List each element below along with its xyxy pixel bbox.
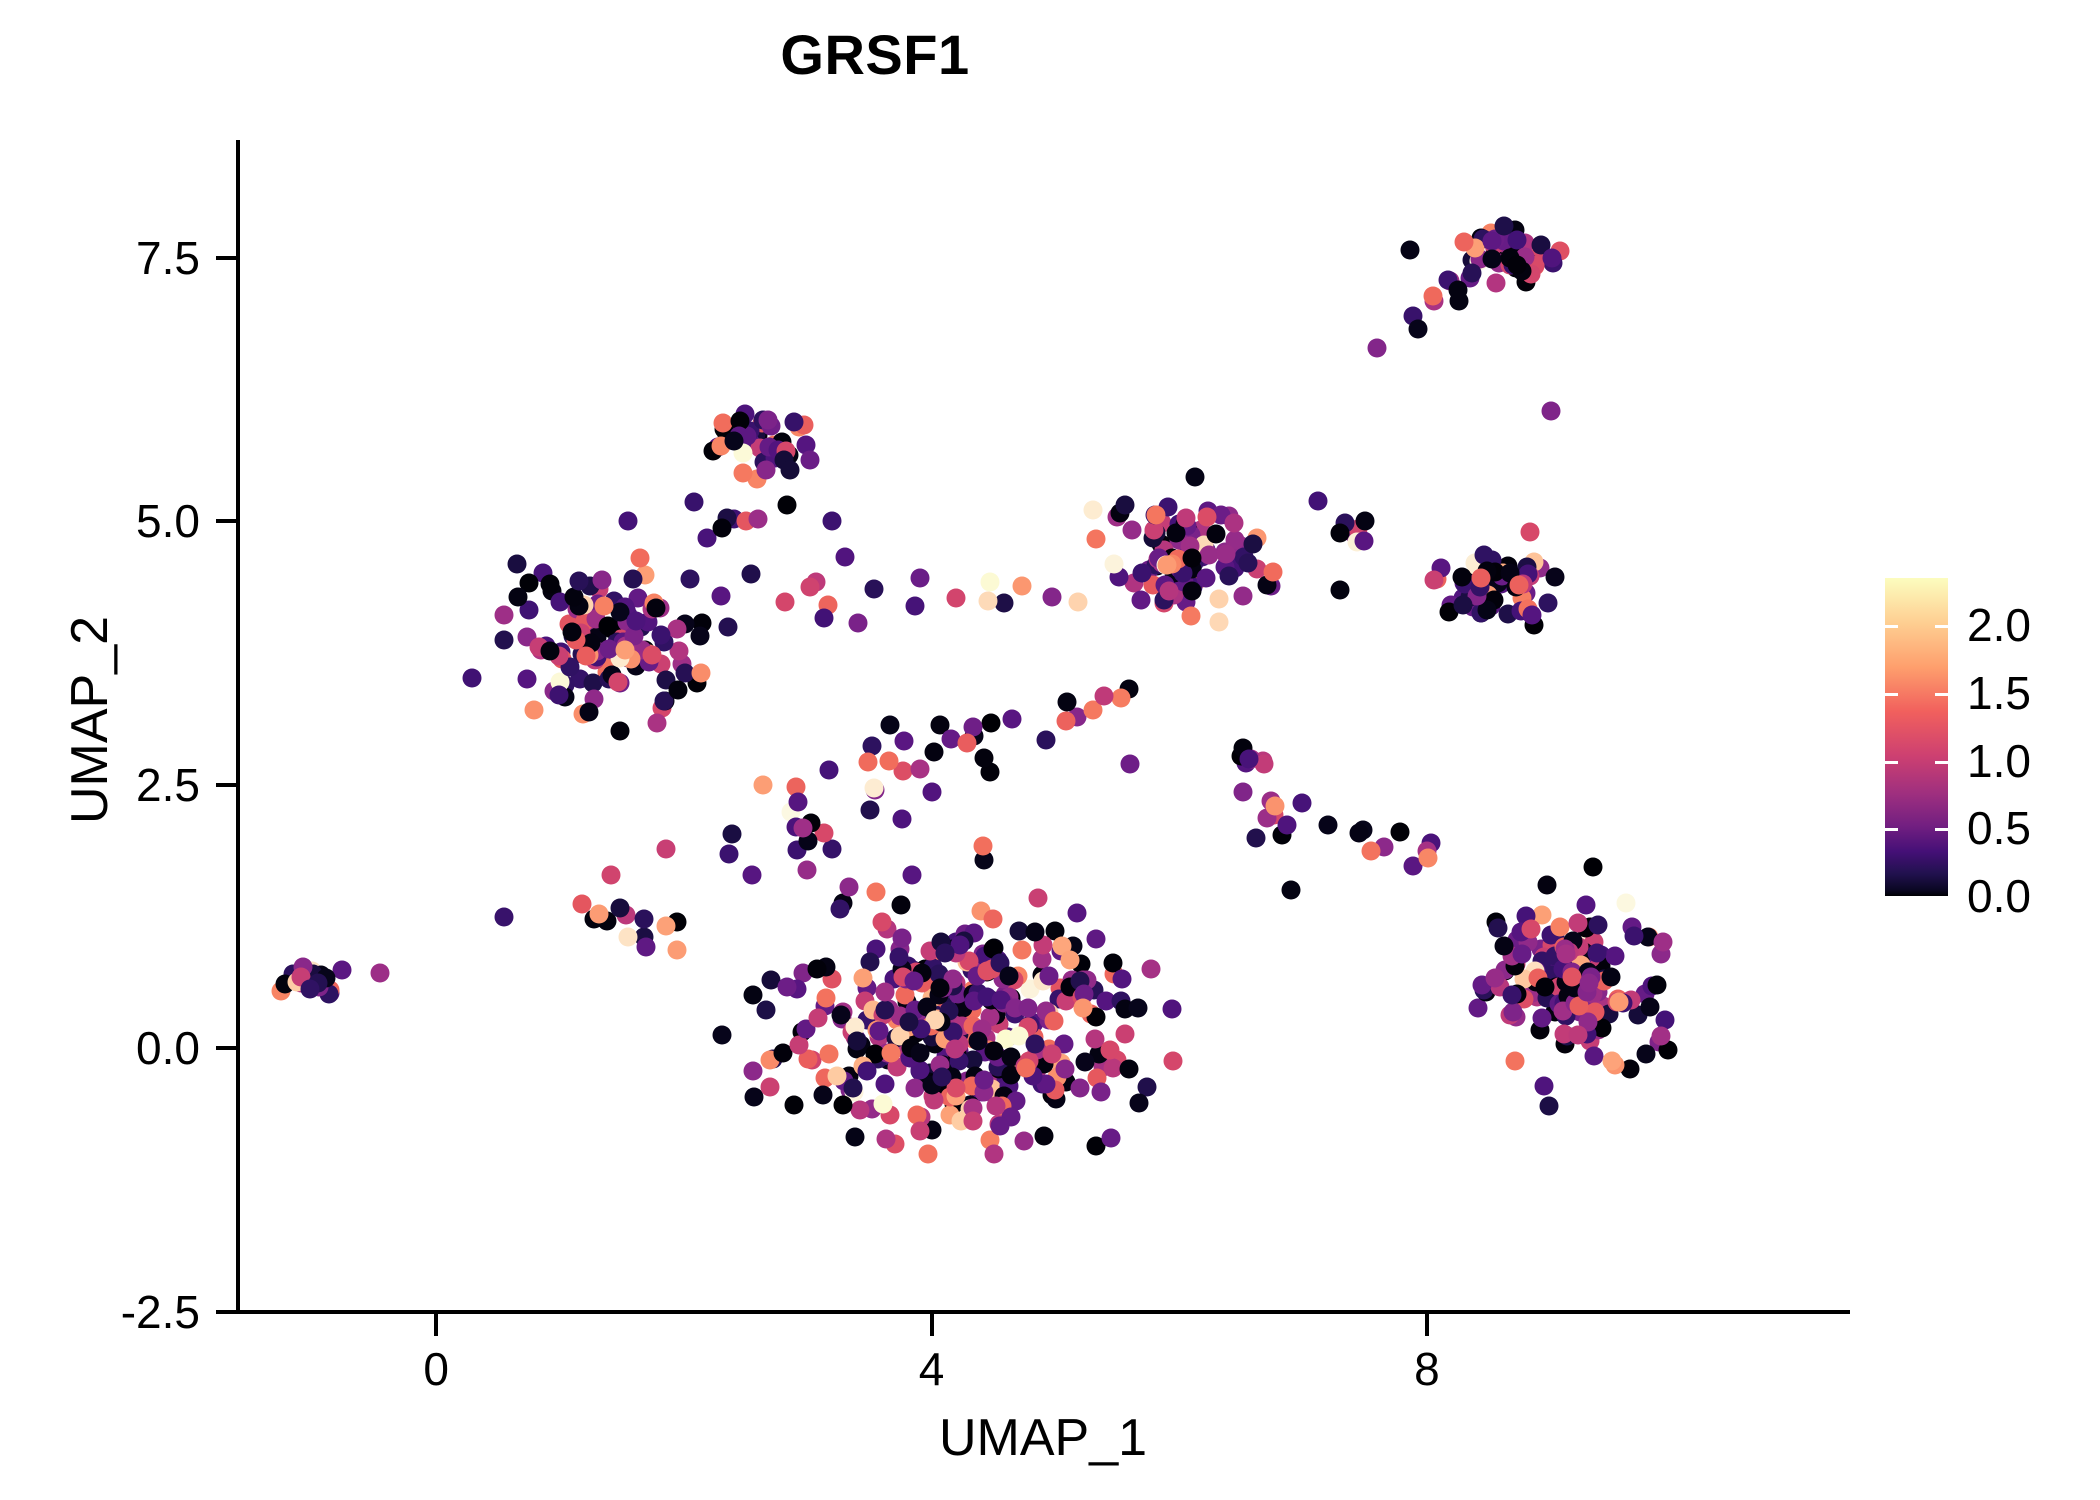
scatter-point (1216, 544, 1235, 563)
scatter-point (975, 1070, 994, 1089)
scatter-point (1391, 822, 1410, 841)
scatter-point (891, 896, 910, 915)
x-tick-mark (930, 1314, 934, 1336)
scatter-point (1579, 974, 1598, 993)
scatter-point (749, 510, 768, 529)
scatter-point (1100, 1040, 1119, 1059)
y-tick-mark (216, 1046, 238, 1050)
colorbar-tick-mark (1885, 761, 1898, 764)
scatter-point (1502, 986, 1521, 1005)
scatter-point (648, 714, 667, 733)
scatter-point (1056, 1059, 1075, 1078)
colorbar-tick-mark (1885, 828, 1898, 831)
scatter-point (1209, 612, 1228, 631)
scatter-point (1585, 1047, 1604, 1066)
scatter-point (801, 577, 820, 596)
scatter-point (371, 963, 390, 982)
scatter-point (999, 967, 1018, 986)
scatter-point (778, 977, 797, 996)
scatter-point (781, 461, 800, 480)
colorbar-tick-mark (1935, 828, 1948, 831)
scatter-point (1495, 937, 1514, 956)
scatter-point (839, 877, 858, 896)
scatter-point (572, 894, 591, 913)
scatter-point (860, 801, 879, 820)
colorbar-tick-mark (1935, 761, 1948, 764)
scatter-point (807, 959, 826, 978)
scatter-point (894, 732, 913, 751)
scatter-point (1086, 529, 1105, 548)
y-tick-label: 7.5 (10, 235, 200, 281)
scatter-point (1362, 842, 1381, 861)
scatter-point (1293, 794, 1312, 813)
scatter-point (797, 860, 816, 879)
colorbar-tick-label: 2.0 (1967, 602, 2031, 648)
scatter-point (713, 1025, 732, 1044)
scatter-point (1356, 512, 1375, 531)
scatter-point (1122, 520, 1141, 539)
x-tick-label: 8 (1357, 1346, 1497, 1392)
scatter-point (1309, 492, 1328, 511)
scatter-point (576, 647, 595, 666)
scatter-point (1164, 1052, 1183, 1071)
scatter-point (565, 588, 584, 607)
scatter-point (623, 570, 642, 589)
scatter-point (1368, 338, 1387, 357)
scatter-point (1101, 1128, 1120, 1147)
scatter-point (1601, 967, 1620, 986)
scatter-point (540, 575, 559, 594)
scatter-point (756, 461, 775, 480)
scatter-point (549, 685, 568, 704)
scatter-point (1075, 1053, 1094, 1072)
scatter-point (864, 778, 883, 797)
scatter-point (494, 605, 513, 624)
x-axis-line (236, 1310, 1850, 1314)
scatter-point (899, 1012, 918, 1031)
scatter-point (1013, 941, 1032, 960)
scatter-point (835, 547, 854, 566)
scatter-point (1034, 1126, 1053, 1145)
scatter-point (995, 594, 1014, 613)
scatter-point (980, 573, 999, 592)
x-tick-label: 4 (862, 1346, 1002, 1392)
scatter-point (508, 555, 527, 574)
scatter-point (1159, 582, 1178, 601)
scatter-point (1588, 944, 1607, 963)
scatter-point (1163, 999, 1182, 1018)
scatter-point (1243, 535, 1262, 554)
scatter-point (1557, 944, 1576, 963)
y-axis-line (236, 140, 240, 1314)
scatter-point (1318, 816, 1337, 835)
scatter-point (1016, 1058, 1035, 1077)
scatter-point (1219, 566, 1238, 585)
scatter-point (882, 1043, 901, 1062)
scatter-point (1545, 568, 1564, 587)
colorbar-tick-label: 1.0 (1967, 738, 2031, 784)
scatter-point (845, 1128, 864, 1147)
colorbar-tick-mark (1885, 693, 1898, 696)
scatter-point (865, 580, 884, 599)
scatter-point (858, 752, 877, 771)
scatter-point (1028, 888, 1047, 907)
scatter-point (910, 569, 929, 588)
scatter-point (823, 512, 842, 531)
scatter-point (1197, 508, 1216, 527)
scatter-point (1207, 525, 1226, 544)
scatter-point (1197, 569, 1216, 588)
scatter-point (872, 912, 891, 931)
scatter-point (1331, 580, 1350, 599)
scatter-point (651, 626, 670, 645)
scatter-point (1073, 998, 1092, 1017)
scatter-point (1419, 849, 1438, 868)
y-tick-mark (216, 256, 238, 260)
scatter-point (1539, 1097, 1558, 1116)
scatter-point (831, 899, 850, 918)
scatter-point (1265, 797, 1284, 816)
scatter-point (642, 646, 661, 665)
colorbar-tick-label: 0.0 (1967, 873, 2031, 919)
scatter-point (844, 1078, 863, 1097)
scatter-point (876, 1074, 895, 1093)
scatter-point (1535, 978, 1554, 997)
scatter-point (1543, 249, 1562, 268)
scatter-point (1602, 1052, 1621, 1071)
scatter-point (1350, 824, 1369, 843)
scatter-point (724, 432, 743, 451)
scatter-point (1513, 945, 1532, 964)
scatter-point (1199, 546, 1218, 565)
scatter-point (1652, 1027, 1671, 1046)
scatter-point (784, 1096, 803, 1115)
scatter-point (524, 701, 543, 720)
scatter-point (910, 1044, 929, 1063)
scatter-point (924, 743, 943, 762)
scatter-point (813, 1086, 832, 1105)
scatter-point (848, 1032, 867, 1051)
scatter-point (820, 1044, 839, 1063)
scatter-point (1115, 495, 1134, 514)
color-legend: 0.00.51.01.52.0 (1885, 578, 2085, 898)
scatter-point (1071, 1078, 1090, 1097)
scatter-point (713, 518, 732, 537)
scatter-point (495, 907, 514, 926)
scatter-point (876, 983, 895, 1002)
scatter-point (801, 450, 820, 469)
scatter-point (1453, 568, 1472, 587)
scatter-point (1653, 932, 1672, 951)
scatter-point (1092, 1082, 1111, 1101)
scatter-point (857, 1061, 876, 1080)
scatter-point (711, 586, 730, 605)
scatter-point (1453, 595, 1472, 614)
scatter-point (1588, 916, 1607, 935)
scatter-point (1158, 556, 1177, 575)
scatter-point (611, 899, 630, 918)
scatter-point (1637, 1044, 1656, 1063)
page-title: GRSF1 (0, 22, 1750, 87)
scatter-point (1424, 571, 1443, 590)
scatter-point (936, 943, 955, 962)
scatter-point (722, 824, 741, 843)
scatter-point (873, 1095, 892, 1114)
scatter-point (508, 588, 527, 607)
figure-root: GRSF1 -2.50.02.55.07.5 048 UMAP_1 UMAP_2… (0, 0, 2100, 1500)
scatter-point (540, 641, 559, 660)
scatter-point (931, 979, 950, 998)
scatter-point (1640, 998, 1659, 1017)
scatter-point (1182, 607, 1201, 626)
scatter-point (933, 1067, 952, 1086)
scatter-point (626, 612, 645, 631)
scatter-point (1277, 815, 1296, 834)
scatter-point (1401, 241, 1420, 260)
scatter-point (1521, 919, 1540, 938)
scatter-points-layer (238, 142, 1848, 1312)
scatter-point (1471, 568, 1490, 587)
scatter-point (1616, 893, 1635, 912)
scatter-point (1186, 467, 1205, 486)
scatter-point (831, 1005, 850, 1024)
scatter-point (1506, 1051, 1525, 1070)
scatter-point (1263, 563, 1282, 582)
colorbar-tick-label: 1.5 (1967, 670, 2031, 716)
scatter-point (1012, 576, 1031, 595)
scatter-point (1355, 531, 1374, 550)
colorbar-tick-mark (1885, 625, 1898, 628)
scatter-point (946, 589, 965, 608)
scatter-point (1058, 693, 1077, 712)
scatter-point (1045, 1012, 1064, 1031)
scatter-point (1129, 1094, 1148, 1113)
scatter-point (1247, 828, 1266, 847)
scatter-point (1489, 919, 1508, 938)
scatter-point (973, 837, 992, 856)
y-tick-label: -2.5 (10, 1289, 200, 1335)
scatter-point (635, 909, 654, 928)
scatter-point (580, 702, 599, 721)
scatter-point (761, 1077, 780, 1096)
scatter-point (968, 1031, 987, 1050)
scatter-point (616, 640, 635, 659)
scatter-point (880, 751, 899, 770)
scatter-point (1541, 401, 1560, 420)
scatter-point (601, 866, 620, 885)
scatter-point (905, 971, 924, 990)
scatter-point (892, 928, 911, 947)
scatter-point (1111, 689, 1130, 708)
scatter-point (1095, 687, 1114, 706)
scatter-point (880, 716, 899, 735)
colorbar-tick-mark (1885, 896, 1898, 899)
y-axis-title: UMAP_2 (60, 320, 120, 1120)
scatter-point (957, 734, 976, 753)
scatter-point (775, 592, 794, 611)
y-tick-mark (216, 1310, 238, 1314)
scatter-point (1504, 1002, 1523, 1021)
scatter-point (785, 412, 804, 431)
scatter-point (495, 631, 514, 650)
scatter-point (594, 596, 613, 615)
scatter-point (853, 969, 872, 988)
scatter-point (589, 905, 608, 924)
scatter-point (1133, 563, 1152, 582)
scatter-point (817, 989, 836, 1008)
scatter-point (1234, 586, 1253, 605)
x-tick-mark (1425, 1314, 1429, 1336)
scatter-point (982, 714, 1001, 733)
scatter-point (815, 608, 834, 627)
scatter-point (1225, 513, 1244, 532)
scatter-point (1521, 523, 1540, 542)
scatter-point (1115, 1025, 1134, 1044)
scatter-point (1037, 730, 1056, 749)
colorbar-tick-mark (1935, 625, 1948, 628)
scatter-point (1146, 506, 1165, 525)
scatter-point (668, 681, 687, 700)
scatter-point (1014, 1131, 1033, 1150)
scatter-point (975, 748, 994, 767)
colorbar-tick-label: 0.5 (1967, 805, 2031, 851)
scatter-point (569, 572, 588, 591)
scatter-point (1533, 1009, 1552, 1028)
scatter-point (1084, 501, 1103, 520)
scatter-point (1238, 553, 1257, 572)
scatter-point (1537, 875, 1556, 894)
scatter-point (1281, 881, 1300, 900)
scatter-point (657, 917, 676, 936)
scatter-point (1487, 273, 1506, 292)
colorbar-tick-mark (1935, 693, 1948, 696)
scatter-point (713, 414, 732, 433)
scatter-point (692, 663, 711, 682)
scatter-point (991, 1116, 1010, 1135)
scatter-point (919, 1145, 938, 1164)
scatter-point (1482, 250, 1501, 269)
scatter-point (1454, 232, 1473, 251)
scatter-point (987, 1096, 1006, 1115)
scatter-point (1462, 264, 1481, 283)
scatter-point (1182, 582, 1201, 601)
scatter-point (518, 670, 537, 689)
scatter-point (684, 492, 703, 511)
scatter-point (1043, 587, 1062, 606)
scatter-point (619, 927, 638, 946)
scatter-point (1069, 592, 1088, 611)
x-axis-title: UMAP_1 (238, 1408, 1848, 1468)
scatter-point (1448, 280, 1467, 299)
y-tick-mark (216, 519, 238, 523)
scatter-point (463, 668, 482, 687)
scatter-point (876, 1129, 895, 1148)
scatter-point (1026, 922, 1045, 941)
scatter-point (819, 761, 838, 780)
scatter-point (1176, 509, 1195, 528)
scatter-point (911, 759, 930, 778)
scatter-point (1583, 857, 1602, 876)
scatter-point (1003, 710, 1022, 729)
scatter-point (1624, 927, 1643, 946)
scatter-point (757, 1001, 776, 1020)
scatter-point (668, 941, 687, 960)
scatter-point (1535, 1076, 1554, 1095)
scatter-point (983, 910, 1002, 929)
scatter-point (1510, 576, 1529, 595)
scatter-point (1331, 523, 1350, 542)
scatter-point (1210, 590, 1229, 609)
scatter-point (1113, 970, 1132, 989)
scatter-point (1240, 750, 1259, 769)
scatter-point (867, 883, 886, 902)
scatter-point (1522, 605, 1541, 624)
y-tick-mark (216, 783, 238, 787)
scatter-point (834, 1095, 853, 1114)
scatter-point (1610, 992, 1629, 1011)
scatter-point (753, 776, 772, 795)
scatter-point (610, 721, 629, 740)
x-tick-label: 0 (366, 1346, 506, 1392)
scatter-point (946, 1039, 965, 1058)
scatter-point (719, 844, 738, 863)
scatter-point (1039, 966, 1058, 985)
scatter-point (1068, 904, 1087, 923)
scatter-point (562, 622, 581, 641)
scatter-point (850, 1101, 869, 1120)
scatter-point (619, 512, 638, 531)
scatter-point (1569, 1026, 1588, 1045)
scatter-point (963, 1112, 982, 1131)
scatter-point (893, 809, 912, 828)
scatter-point (1233, 782, 1252, 801)
scatter-point (300, 980, 319, 999)
scatter-point (905, 1078, 924, 1097)
scatter-point (828, 1066, 847, 1085)
scatter-point (1056, 712, 1075, 731)
scatter-point (848, 613, 867, 632)
scatter-point (809, 1008, 828, 1027)
scatter-point (869, 1022, 888, 1041)
scatter-point (778, 495, 797, 514)
scatter-point (1060, 950, 1079, 969)
scatter-point (1408, 320, 1427, 339)
scatter-point (593, 571, 612, 590)
scatter-point (744, 1061, 763, 1080)
scatter-point (1120, 754, 1139, 773)
scatter-point (1485, 969, 1504, 988)
scatter-point (637, 938, 656, 957)
scatter-point (1119, 1060, 1138, 1079)
scatter-point (1508, 256, 1527, 275)
scatter-point (691, 627, 710, 646)
scatter-point (1539, 594, 1558, 613)
scatter-point (875, 1001, 894, 1020)
scatter-point (681, 570, 700, 589)
scatter-point (911, 1122, 930, 1141)
scatter-point (903, 866, 922, 885)
scatter-point (657, 840, 676, 859)
scatter-point (1569, 914, 1588, 933)
colorbar-tick-mark (1935, 896, 1948, 899)
scatter-point (734, 464, 753, 483)
scatter-point (789, 793, 808, 812)
scatter-point (906, 596, 925, 615)
plot-panel (238, 142, 1848, 1312)
scatter-point (1605, 947, 1624, 966)
scatter-point (1647, 976, 1666, 995)
scatter-point (984, 1144, 1003, 1163)
